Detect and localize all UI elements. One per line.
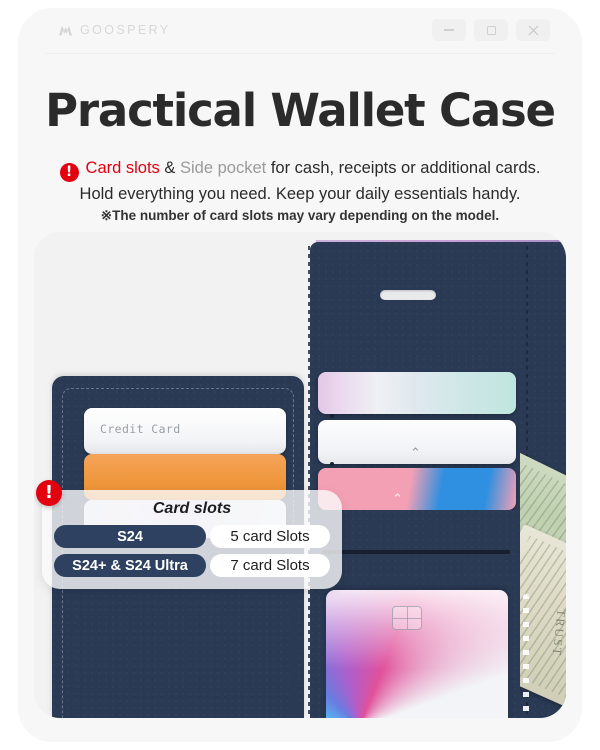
- close-icon: [528, 25, 539, 36]
- brand-logo: GOOSPERY: [58, 23, 171, 37]
- minimize-button[interactable]: [432, 19, 466, 41]
- table-row: S24+ & S24 Ultra 7 card Slots: [54, 554, 330, 577]
- card-pastel: [318, 372, 516, 414]
- credit-card-label: Credit Card: [100, 422, 181, 436]
- card-credit-white: Credit Card: [84, 408, 286, 454]
- slot-pin-1: [330, 414, 334, 418]
- app-panel: GOOSPERY Practical Wallet Case !Card slo…: [18, 8, 582, 742]
- panel-alert-icon: !: [36, 480, 62, 506]
- maximize-button[interactable]: [474, 19, 508, 41]
- titlebar-divider: [46, 53, 554, 54]
- goospery-logo-icon: [58, 24, 73, 37]
- subhead-keyword-card-slots: Card slots: [86, 159, 160, 177]
- model-label-s24plus-ultra: S24+ & S24 Ultra: [54, 554, 206, 577]
- subhead-keyword-side-pocket: Side pocket: [180, 159, 266, 177]
- chevron-up-icon-2: ⌃: [392, 492, 403, 505]
- chevron-up-icon-1: ⌃: [410, 446, 421, 459]
- slot-pin-2: [330, 462, 334, 466]
- minimize-icon: [444, 29, 454, 31]
- speaker-cutout: [380, 290, 436, 300]
- close-button[interactable]: [516, 19, 550, 41]
- card-slots-panel: ! Card slots S24 5 card Slots S24+ & S24…: [42, 490, 342, 589]
- model-note: ※The number of card slots may vary depen…: [18, 208, 582, 224]
- slot-opening-middle: [322, 550, 510, 554]
- card-slots-title: Card slots: [54, 500, 330, 518]
- window-controls: [432, 19, 572, 41]
- brand-name: GOOSPERY: [80, 23, 171, 37]
- card-rainbow-chip: [326, 590, 508, 718]
- product-photo: ⌃ ⌃ Credit Card TRUST: [34, 232, 566, 718]
- emv-chip-icon: [392, 606, 422, 630]
- table-row: S24 5 card Slots: [54, 525, 330, 548]
- model-label-s24: S24: [54, 525, 206, 548]
- slots-value-s24: 5 card Slots: [210, 525, 330, 548]
- subhead-line-2: Hold everything you need. Keep your dail…: [18, 182, 582, 206]
- wallet-pocket-middle: [316, 510, 520, 580]
- alert-icon: !: [60, 163, 79, 182]
- page-title: Practical Wallet Case: [18, 84, 582, 137]
- perforation-dots: [523, 594, 529, 718]
- subhead: !Card slots & Side pocket for cash, rece…: [18, 156, 582, 206]
- slots-value-s24plus-ultra: 7 card Slots: [210, 554, 330, 577]
- card-white-right: ⌃: [318, 420, 516, 464]
- window-titlebar: GOOSPERY: [18, 8, 582, 52]
- subhead-line-1: !Card slots & Side pocket for cash, rece…: [18, 156, 582, 182]
- maximize-icon: [487, 26, 496, 35]
- card-pink-blue: ⌃: [318, 468, 516, 510]
- subhead-amp: &: [160, 159, 180, 177]
- subhead-line-1-tail: for cash, receipts or additional cards.: [266, 159, 540, 177]
